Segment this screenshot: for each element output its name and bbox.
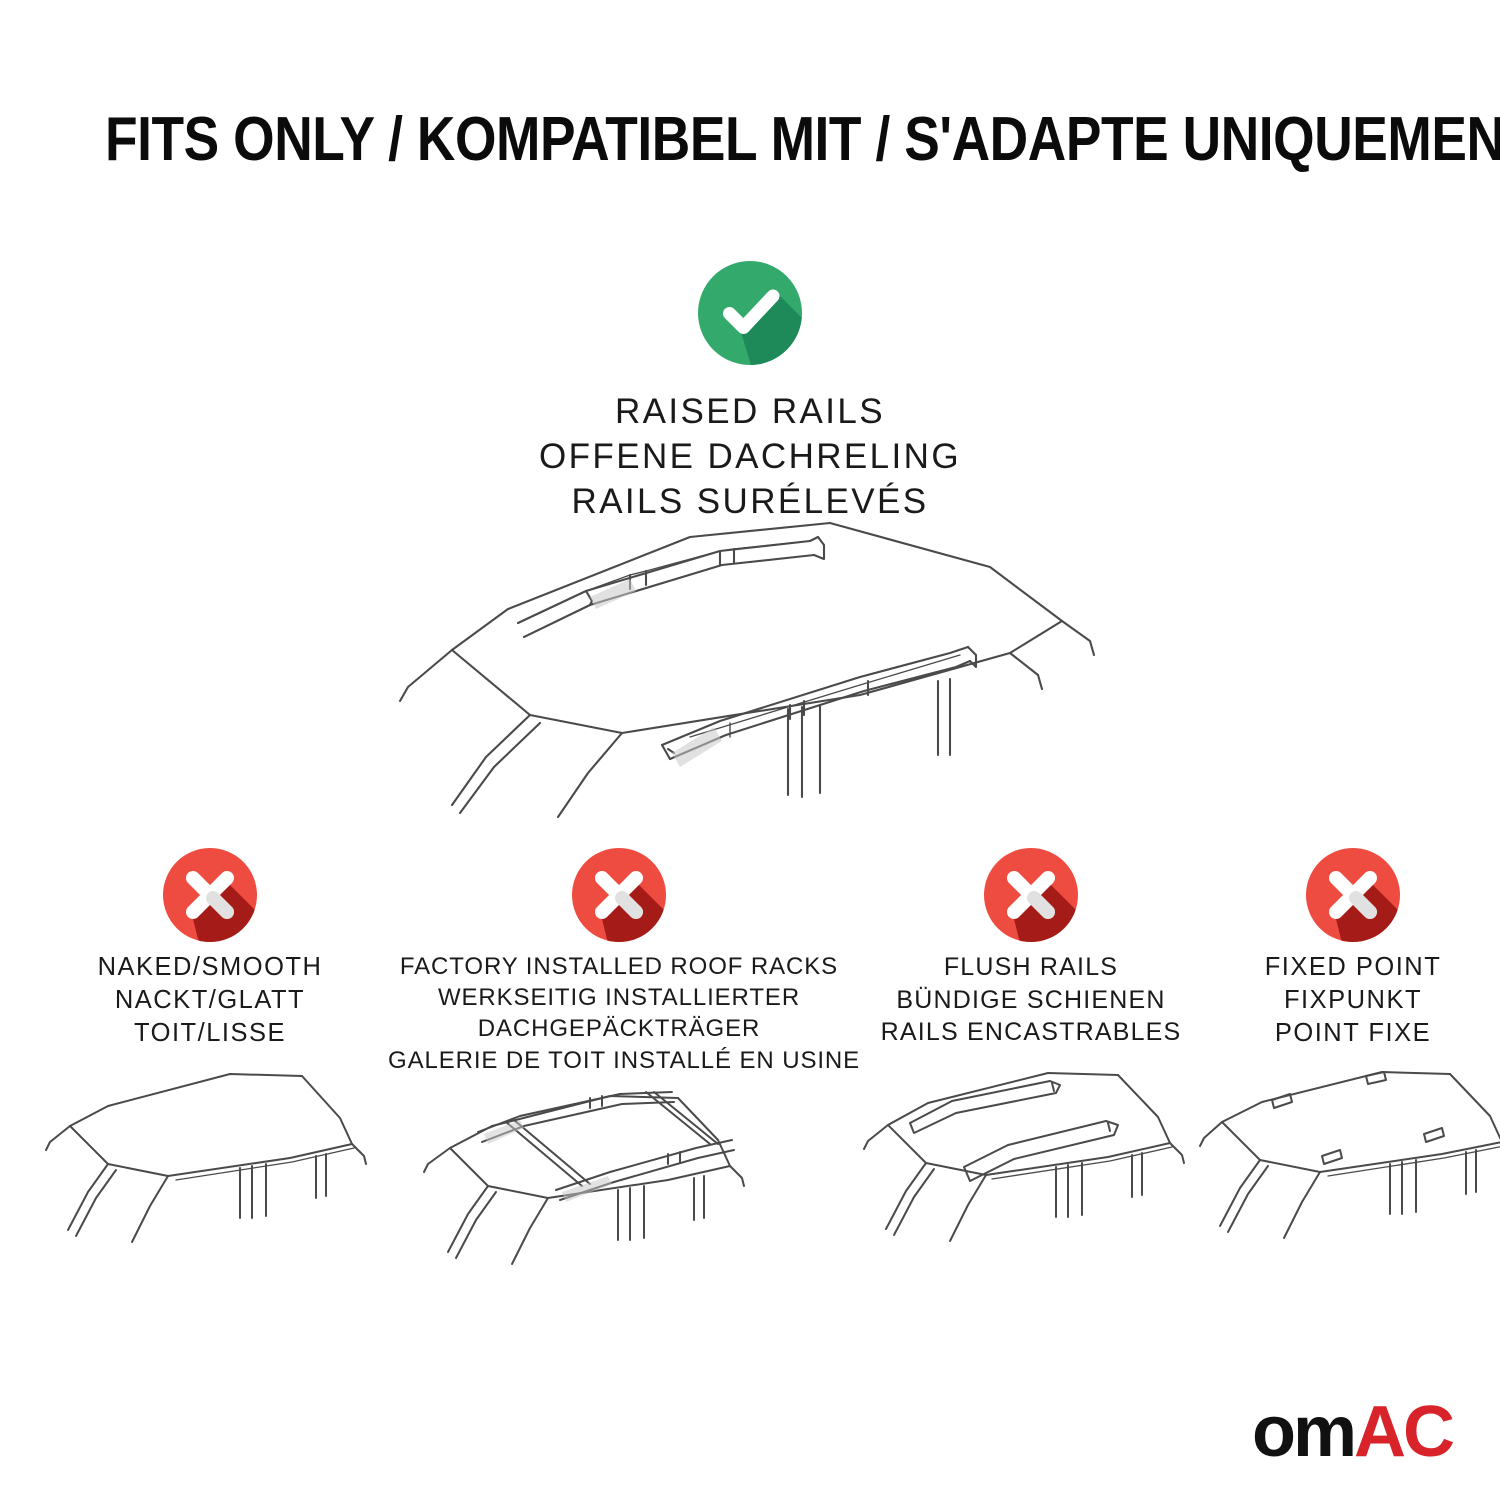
compatibility-infographic: FITS ONLY / KOMPATIBEL MIT / S'ADAPTE UN… — [0, 0, 1500, 1500]
rejected-item-flush-rails: FLUSH RAILS BÜNDIGE SCHIENEN RAILS ENCAS… — [856, 845, 1206, 1294]
omac-logo: omAC — [1252, 1396, 1452, 1468]
green-check-circle-icon — [695, 258, 805, 368]
label-line-fr: POINT FIXE — [1208, 1017, 1498, 1050]
red-x-circle-icon — [981, 845, 1081, 945]
red-x-circle-icon — [1303, 845, 1403, 945]
label-line-de: BÜNDIGE SCHIENEN — [856, 984, 1206, 1017]
car-roof-naked-smooth-illustration — [40, 1060, 380, 1295]
red-x-circle-icon — [160, 845, 260, 945]
red-x-circle-icon — [569, 845, 669, 945]
car-roof-raised-rails-illustration — [390, 505, 1110, 835]
label-line-de-2: DACHGEPÄCKTRÄGER — [388, 1013, 850, 1044]
rejected-labels-factory-roof-racks: FACTORY INSTALLED ROOF RACKS WERKSEITIG … — [388, 951, 850, 1076]
label-line-en: FLUSH RAILS — [856, 951, 1206, 984]
approved-label-en: RAISED RAILS — [0, 390, 1500, 435]
rejected-item-factory-roof-racks: FACTORY INSTALLED ROOF RACKS WERKSEITIG … — [388, 845, 850, 1321]
approved-section: RAISED RAILS OFFENE DACHRELING RAILS SUR… — [0, 258, 1500, 524]
label-line-fr: TOIT/LISSE — [40, 1017, 380, 1050]
label-line-fr: RAILS ENCASTRABLES — [856, 1016, 1206, 1049]
rejected-item-naked-smooth: NAKED/SMOOTH NACKT/GLATT TOIT/LISSE — [40, 845, 380, 1295]
label-line-de-1: WERKSEITIG INSTALLIERTER — [388, 982, 850, 1013]
label-line-de: NACKT/GLATT — [40, 984, 380, 1017]
car-roof-factory-roof-racks-illustration — [388, 1086, 850, 1321]
car-roof-flush-rails-illustration — [856, 1059, 1206, 1294]
label-line-fr: GALERIE DE TOIT INSTALLÉ EN USINE — [388, 1045, 850, 1076]
logo-text-red: AC — [1354, 1392, 1452, 1472]
label-line-de: FIXPUNKT — [1208, 984, 1498, 1017]
label-line-en: NAKED/SMOOTH — [40, 951, 380, 984]
logo-text-dark: om — [1252, 1392, 1354, 1472]
approved-label-de: OFFENE DACHRELING — [0, 435, 1500, 480]
rejected-item-fixed-point: FIXED POINT FIXPUNKT POINT FIXE — [1208, 845, 1498, 1295]
page-title: FITS ONLY / KOMPATIBEL MIT / S'ADAPTE UN… — [105, 104, 1395, 175]
label-line-en: FACTORY INSTALLED ROOF RACKS — [388, 951, 850, 982]
car-roof-fixed-point-illustration — [1208, 1060, 1498, 1295]
label-line-en: FIXED POINT — [1208, 951, 1498, 984]
rejected-labels-naked-smooth: NAKED/SMOOTH NACKT/GLATT TOIT/LISSE — [40, 951, 380, 1050]
rejected-labels-fixed-point: FIXED POINT FIXPUNKT POINT FIXE — [1208, 951, 1498, 1050]
rejected-labels-flush-rails: FLUSH RAILS BÜNDIGE SCHIENEN RAILS ENCAS… — [856, 951, 1206, 1049]
rejected-section: NAKED/SMOOTH NACKT/GLATT TOIT/LISSE — [0, 845, 1500, 1325]
